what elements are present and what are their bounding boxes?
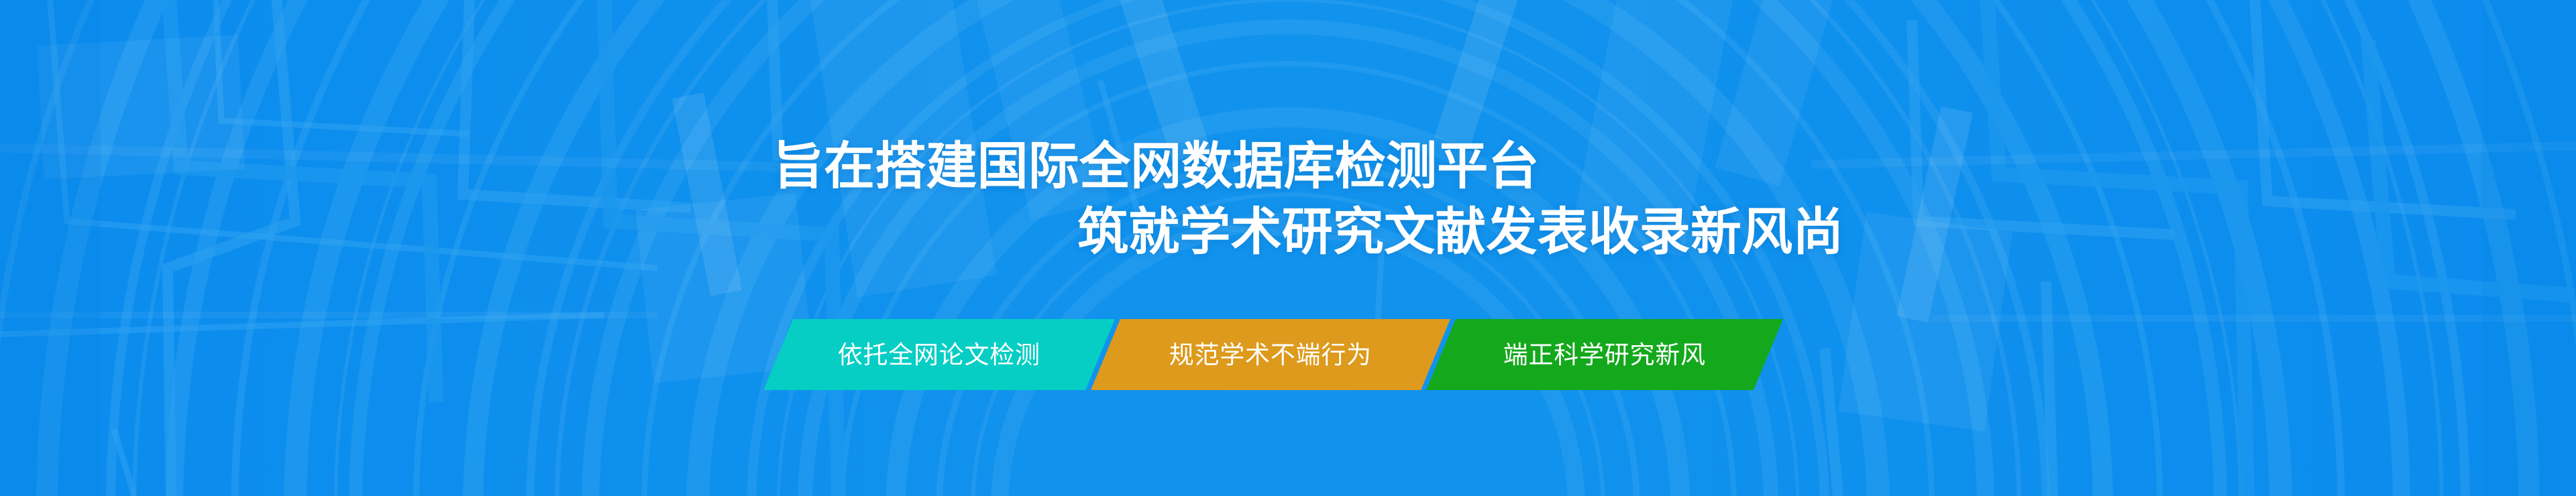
headline-line-1: 旨在搭建国际全网数据库检测平台: [773, 134, 2576, 200]
banner-content: 旨在搭建国际全网数据库检测平台 筑就学术研究文献发表收录新风尚 依托全网论文检测…: [0, 0, 2576, 496]
feature-tag-research-ethics[interactable]: 端正科学研究新风: [1426, 319, 1783, 390]
headline: 旨在搭建国际全网数据库检测平台 筑就学术研究文献发表收录新风尚: [0, 134, 2576, 265]
feature-tag-strip: 依托全网论文检测 规范学术不端行为 端正科学研究新风: [778, 319, 1768, 390]
feature-tag-academic-misconduct[interactable]: 规范学术不端行为: [1091, 319, 1450, 390]
feature-tag-label: 依托全网论文检测: [838, 343, 1040, 367]
hero-banner: 旨在搭建国际全网数据库检测平台 筑就学术研究文献发表收录新风尚 依托全网论文检测…: [0, 0, 2576, 496]
feature-tag-paper-detection[interactable]: 依托全网论文检测: [763, 319, 1115, 390]
feature-tag-label: 端正科学研究新风: [1503, 343, 1706, 367]
headline-line-2: 筑就学术研究文献发表收录新风尚: [1077, 200, 2576, 265]
feature-tag-label: 规范学术不端行为: [1169, 343, 1372, 367]
